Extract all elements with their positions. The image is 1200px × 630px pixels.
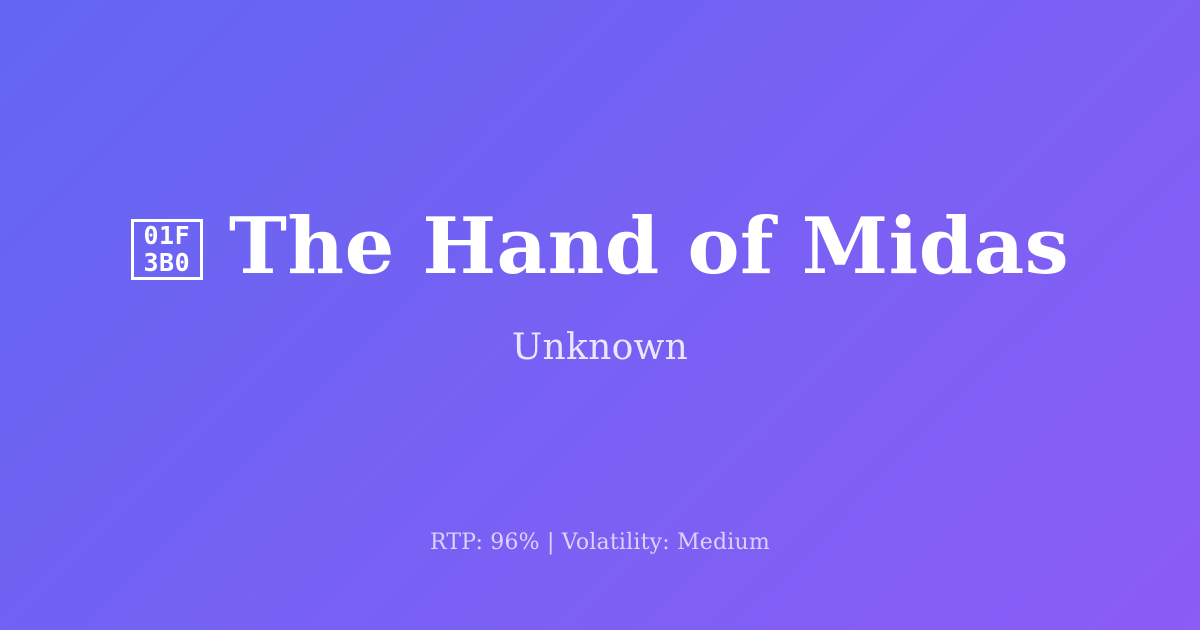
game-og-card: 01F 3B0 The Hand of Midas Unknown RTP: 9… (0, 0, 1200, 630)
tofu-codepoint-row-bottom: 3B0 (143, 249, 190, 276)
game-provider-subtitle: Unknown (512, 326, 688, 369)
game-title: The Hand of Midas (229, 205, 1069, 289)
hero-block: 01F 3B0 The Hand of Midas Unknown (0, 205, 1200, 368)
slot-machine-emoji-icon: 01F 3B0 (131, 219, 203, 280)
game-meta-line: RTP: 96% | Volatility: Medium (0, 529, 1200, 558)
tofu-codepoint-row-top: 01F (143, 222, 190, 249)
title-row: 01F 3B0 The Hand of Midas (0, 205, 1200, 289)
